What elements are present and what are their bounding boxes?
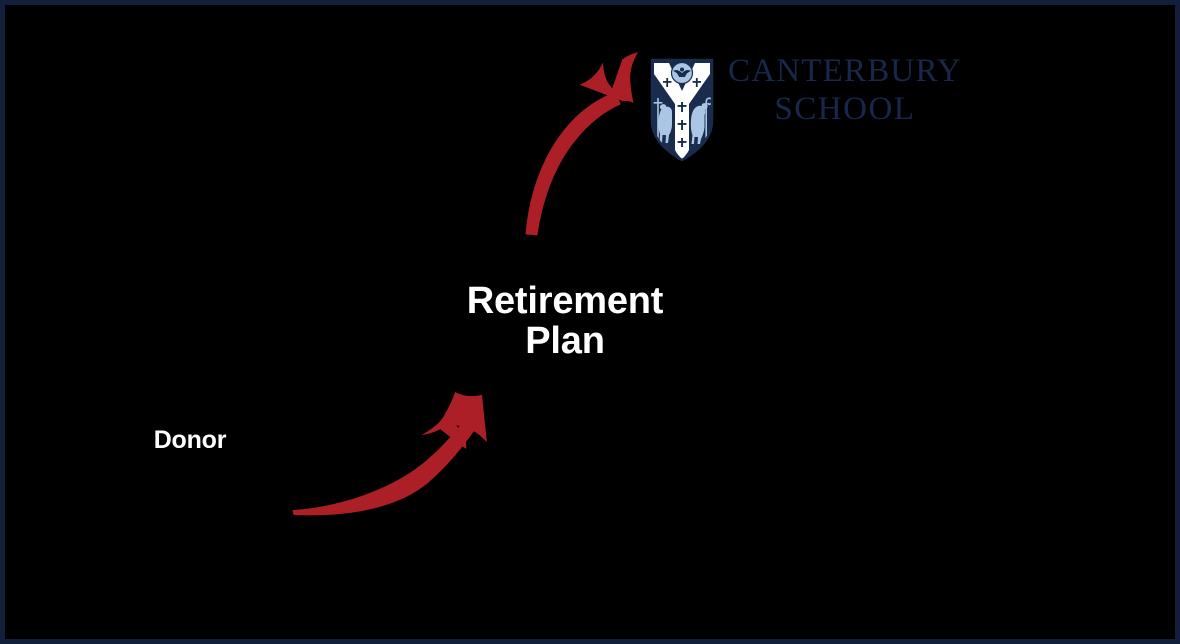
- logo-wordmark: CANTERBURY SCHOOL: [728, 55, 962, 126]
- logo-line-school: SCHOOL: [774, 93, 915, 126]
- canterbury-school-logo: CANTERBURY SCHOOL: [650, 50, 950, 160]
- arrow-donor-to-retirement-plan: [293, 392, 487, 515]
- donor-node: Donor: [110, 427, 270, 454]
- diagram-canvas: Retirement Plan Donor: [0, 0, 1180, 644]
- shield-crest-icon: [650, 58, 714, 162]
- retirement-plan-node: Retirement Plan: [405, 281, 725, 362]
- logo-line-canterbury: CANTERBURY: [728, 55, 962, 88]
- arrow-retirement-plan-to-school: [526, 47, 639, 236]
